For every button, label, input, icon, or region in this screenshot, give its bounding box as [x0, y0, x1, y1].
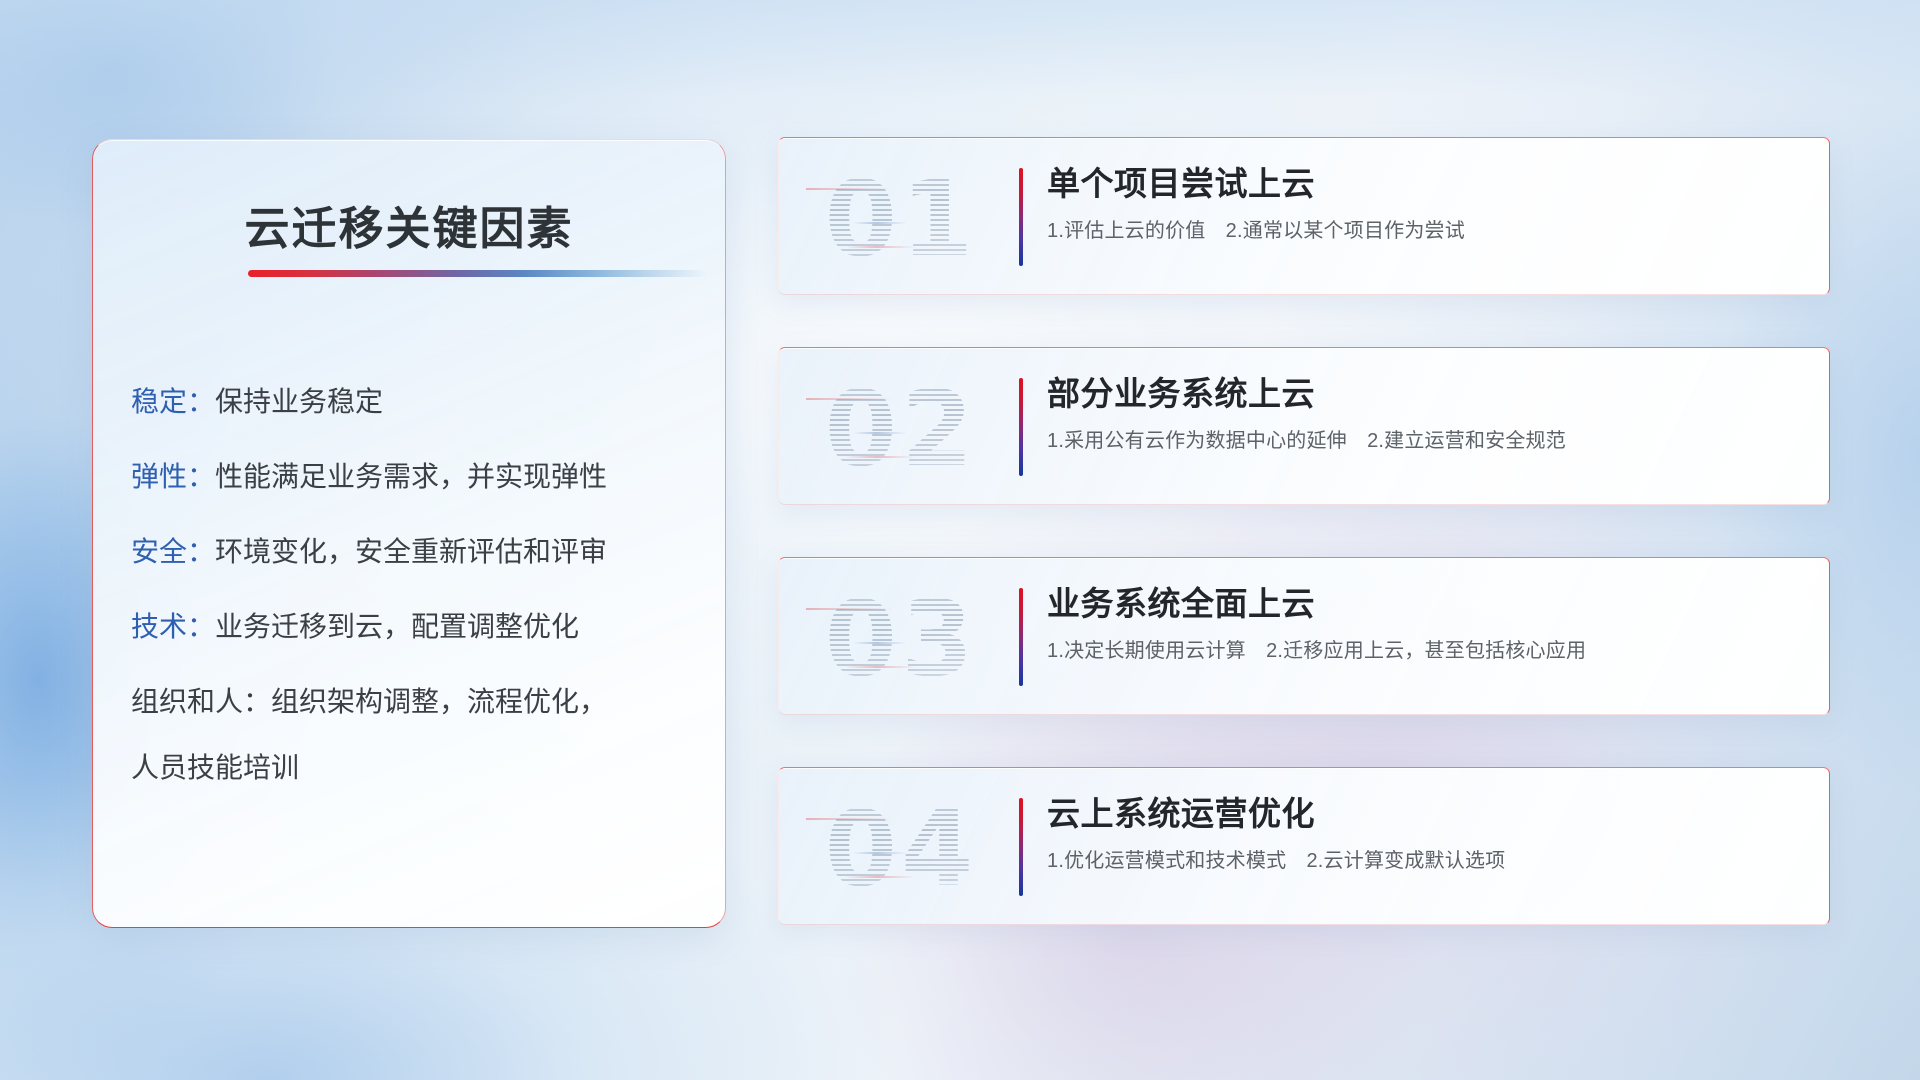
stage-card[interactable]: 02 部分业务系统上云 1.采用公有云作为数据中心的延伸 2.建立运营和安全规范: [778, 347, 1830, 505]
stage-title: 部分业务系统上云: [1047, 374, 1807, 414]
list-item-label: 弹性：: [131, 461, 215, 492]
page-title: 云迁移关键因素: [93, 192, 725, 257]
stage-number: 01: [801, 164, 1001, 274]
stage-number: 04: [801, 794, 1001, 904]
migration-stages-list: 01 单个项目尝试上云 1.评估上云的价值 2.通常以某个项目作为尝试 02 部…: [778, 137, 1830, 925]
stage-number: 02: [801, 374, 1001, 484]
stage-subtitle: 1.优化运营模式和技术模式 2.云计算变成默认选项: [1047, 848, 1807, 874]
stage-accent-bar: [1019, 168, 1023, 266]
list-item: 稳定：保持业务稳定: [131, 388, 701, 416]
list-item-label: 安全：: [131, 536, 215, 567]
stage-accent-bar: [1019, 798, 1023, 896]
stage-card[interactable]: 04 云上系统运营优化 1.优化运营模式和技术模式 2.云计算变成默认选项: [778, 767, 1830, 925]
stage-title: 业务系统全面上云: [1047, 584, 1807, 624]
list-item-label: 技术：: [131, 611, 215, 642]
list-item-value: 人员技能培训: [131, 752, 299, 783]
stage-title: 单个项目尝试上云: [1047, 164, 1807, 204]
key-factors-list: 稳定：保持业务稳定 弹性：性能满足业务需求，并实现弹性 安全：环境变化，安全重新…: [131, 388, 701, 782]
list-item-value: 组织架构调整，流程优化，: [271, 686, 607, 717]
stage-title: 云上系统运营优化: [1047, 794, 1807, 834]
list-item-label: 组织和人：: [131, 686, 271, 717]
stage-subtitle: 1.评估上云的价值 2.通常以某个项目作为尝试: [1047, 218, 1807, 244]
list-item: 组织和人：组织架构调整，流程优化，: [131, 688, 701, 716]
title-underline-rule: [248, 270, 708, 277]
stage-subtitle: 1.决定长期使用云计算 2.迁移应用上云，甚至包括核心应用: [1047, 638, 1807, 664]
stage-text-block: 部分业务系统上云 1.采用公有云作为数据中心的延伸 2.建立运营和安全规范: [1047, 374, 1807, 454]
stage-accent-bar: [1019, 378, 1023, 476]
list-item: 安全：环境变化，安全重新评估和评审: [131, 538, 701, 566]
list-item-label: 稳定：: [131, 386, 215, 417]
stage-text-block: 业务系统全面上云 1.决定长期使用云计算 2.迁移应用上云，甚至包括核心应用: [1047, 584, 1807, 664]
list-item-continuation: 人员技能培训: [131, 754, 701, 782]
list-item-value: 保持业务稳定: [215, 386, 383, 417]
key-factors-panel: 云迁移关键因素 稳定：保持业务稳定 弹性：性能满足业务需求，并实现弹性 安全：环…: [92, 139, 726, 928]
slide-canvas: 云迁移关键因素 稳定：保持业务稳定 弹性：性能满足业务需求，并实现弹性 安全：环…: [0, 0, 1920, 1080]
stage-text-block: 单个项目尝试上云 1.评估上云的价值 2.通常以某个项目作为尝试: [1047, 164, 1807, 244]
stage-accent-bar: [1019, 588, 1023, 686]
list-item-value: 性能满足业务需求，并实现弹性: [215, 461, 607, 492]
stage-card[interactable]: 01 单个项目尝试上云 1.评估上云的价值 2.通常以某个项目作为尝试: [778, 137, 1830, 295]
stage-subtitle: 1.采用公有云作为数据中心的延伸 2.建立运营和安全规范: [1047, 428, 1807, 454]
stage-text-block: 云上系统运营优化 1.优化运营模式和技术模式 2.云计算变成默认选项: [1047, 794, 1807, 874]
list-item-value: 业务迁移到云，配置调整优化: [215, 611, 579, 642]
list-item-value: 环境变化，安全重新评估和评审: [215, 536, 607, 567]
stage-number: 03: [801, 584, 1001, 694]
list-item: 技术：业务迁移到云，配置调整优化: [131, 613, 701, 641]
stage-card[interactable]: 03 业务系统全面上云 1.决定长期使用云计算 2.迁移应用上云，甚至包括核心应…: [778, 557, 1830, 715]
list-item: 弹性：性能满足业务需求，并实现弹性: [131, 463, 701, 491]
